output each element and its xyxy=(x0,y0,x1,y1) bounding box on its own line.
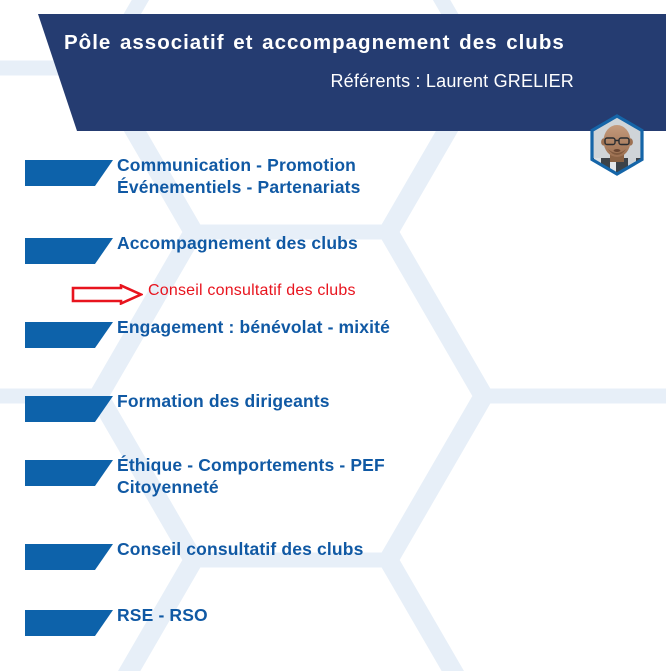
sub-list-item-label: Conseil consultatif des clubs xyxy=(148,281,356,302)
list-item[interactable]: Accompagnement des clubs xyxy=(0,232,666,255)
bullet-parallelogram-icon xyxy=(25,610,113,636)
list-item[interactable]: Conseil consultatif des clubs xyxy=(0,538,666,561)
list-item[interactable]: Engagement : bénévolat - mixité xyxy=(0,316,666,339)
page-title: Pôle associatif et accompagnement des cl… xyxy=(64,30,580,56)
header-subtitle-referents: Référents : Laurent GRELIER xyxy=(64,71,580,92)
right-arrow-outline-icon xyxy=(71,284,143,305)
list-item-line2: Citoyenneté xyxy=(117,477,219,497)
bullet-parallelogram-icon xyxy=(25,544,113,570)
bullet-parallelogram-icon xyxy=(25,322,113,348)
list-item-line1: Éthique - Comportements - PEF xyxy=(117,455,385,475)
slide-canvas: Pôle associatif et accompagnement des cl… xyxy=(0,0,666,671)
list-item[interactable]: RSE - RSO xyxy=(0,604,666,627)
header-text-block: Pôle associatif et accompagnement des cl… xyxy=(64,30,580,92)
list-item-line2: Événementiels - Partenariats xyxy=(117,177,360,197)
header-banner: Pôle associatif et accompagnement des cl… xyxy=(0,14,666,131)
bullet-parallelogram-icon xyxy=(25,160,113,186)
bullet-parallelogram-icon xyxy=(25,238,113,264)
list-item[interactable]: Communication - PromotionÉvénementiels -… xyxy=(0,154,666,198)
list-item[interactable]: Éthique - Comportements - PEFCitoyenneté xyxy=(0,454,666,498)
bullet-parallelogram-icon xyxy=(25,396,113,422)
list-item[interactable]: Formation des dirigeants xyxy=(0,390,666,413)
sub-list-item[interactable]: Conseil consultatif des clubs xyxy=(0,280,666,310)
list-item-line1: Communication - Promotion xyxy=(117,155,356,175)
bullet-parallelogram-icon xyxy=(25,460,113,486)
